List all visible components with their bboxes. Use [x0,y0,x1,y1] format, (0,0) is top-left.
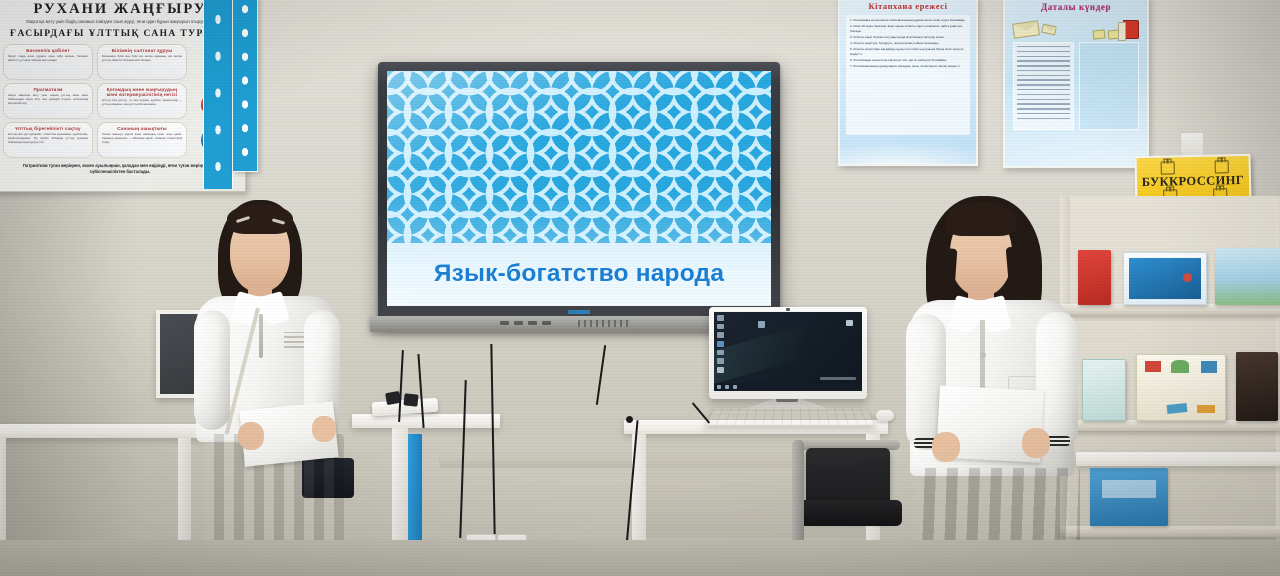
envelope-icon [1012,20,1040,38]
desktop-icon[interactable] [717,367,724,373]
whiteboard-button[interactable] [500,321,509,325]
taskbar-icon[interactable] [733,385,737,389]
student-left [180,190,366,576]
desktop-icons[interactable] [717,315,724,373]
poster-dates-panels [1011,42,1141,130]
poster-card: Прагматизм Нақты мақсатқа жету үшін өзің… [3,83,93,119]
poster-library-rules-title: Кітапхана ережесі [846,2,970,11]
sticky-note-icon [1093,29,1106,39]
poster-card-body: Қазіргі таңда өзіне тұрақты орын таба ал… [8,55,88,63]
poster-wave-decoration [840,130,978,164]
desktop-icon[interactable] [717,332,724,338]
desktop-icon[interactable] [846,320,853,326]
monitor-screen[interactable] [714,312,862,391]
slide-circle-pattern [387,71,771,243]
poster-card: Білімнің салтанат құруы Болашақта білім … [97,44,187,80]
hand [238,422,264,450]
poster-card: Ұлттық бірегейлікті сақтау Ұлттық салт-д… [3,122,93,158]
desktop-icon[interactable] [717,358,724,364]
poster-card-body: Ұлттық салт-дәстүрлеріміз, тіліміз бен м… [8,133,88,145]
poster-dates-blank-panel [1079,42,1140,130]
whiteboard-buttons[interactable] [500,321,551,325]
poster-card-heading: Ұлттық бірегейлікті сақтау [8,126,88,131]
book-doodle-icon [1161,161,1175,174]
desk-right [1076,452,1280,466]
rule-line: 7. Кітапханашының нұсқауларын орындау, о… [850,64,966,70]
bookshelf-shelf [1060,420,1280,431]
desktop-icon[interactable] [717,324,724,330]
book-item[interactable] [1136,354,1226,421]
floor [0,540,1280,576]
rule-line: 1. Кітапханаға келушілерге кітапханашыны… [850,18,966,24]
blouse-button [980,352,986,358]
desktop-icon[interactable] [758,321,765,328]
desk-left [0,424,208,438]
bookcrossing-label: БУККРОССИНГ [1142,172,1245,189]
sleeve-left [194,310,230,430]
book-doodle-icon [1215,160,1229,173]
book-item[interactable] [1090,468,1168,526]
poster-card-body: Нақты мақсатқа жету үшін өзіңнің ұлттық … [8,94,88,106]
hand [312,416,336,442]
book-item[interactable] [1123,252,1207,305]
whiteboard-frame: Язык-богатство народа [378,62,780,322]
chair-seat[interactable] [798,500,902,526]
hand [932,432,960,462]
computer-monitor[interactable] [709,307,867,399]
poster-card-heading: Прагматизм [8,87,88,92]
power-plug [403,393,418,406]
cable-clip [626,416,633,423]
rule-line: 2. Кітап 10 күнге беріледі. Егер оқушы к… [850,24,966,35]
slide-title: Язык-богатство народа [387,243,771,306]
kazakh-ornament-icon [203,0,233,189]
whiteboard-button[interactable] [542,321,551,325]
book-item[interactable] [1215,248,1280,305]
poster-card: Қоғамдық және жаңғырудың мәні өзгермеуші… [97,83,187,119]
taskbar[interactable] [714,383,862,391]
whiteboard-button[interactable] [528,321,537,325]
poster-card-heading: Қоғамдық және жаңғырудың мәні өзгермеуші… [102,87,182,97]
book-item[interactable] [1236,352,1278,421]
shirt-placket [259,314,263,358]
poster-card-body: Болашақта білім мен білік кез келген ада… [102,55,182,63]
student-right [896,188,1092,576]
poster-memorable-dates: Даталы күндер [1003,0,1149,168]
taskbar-icon[interactable] [717,385,721,389]
envelope-icon [1041,24,1057,36]
poster-card-heading: Білімнің салтанат құруы [102,48,182,53]
desktop-icon[interactable] [717,350,724,356]
interactive-whiteboard[interactable]: Язык-богатство народа [378,62,780,322]
keyboard[interactable] [706,407,875,425]
hand [1022,428,1050,458]
poster-memorable-dates-title: Даталы күндер [1011,2,1141,12]
rule-line: 5. Кітапты жоғалтқан жағдайда оқушы сол … [850,47,966,58]
poster-ruhani-zhangyru: РУХАНИ ЖАҢҒЫРУ Мақсатқа жету үшін біздің… [0,0,246,192]
whiteboard-logo [568,310,590,314]
whiteboard-button[interactable] [514,321,523,325]
desktop-watermark [820,377,856,380]
poster-card-body: Үшінші жаңғыру өңірлік және жаһандық сип… [102,133,182,145]
hair-fringe [946,202,1016,236]
poster-card: Бәсекелік қабілет Қазіргі таңда өзіне тұ… [3,44,93,80]
desktop-icon[interactable] [717,315,724,321]
desktop-icon[interactable] [717,341,724,347]
whiteboard-ports [578,320,630,327]
book-icon [1123,20,1139,39]
poster-card-body: Ұлттық салт-дәстүр, тіл мен музыка, әдеб… [102,99,182,107]
poster-library-rules: Кітапхана ережесі 1. Кітапханаға келушіл… [838,0,978,166]
poster-dates-text-panel [1013,42,1074,130]
classroom-photo: РУХАНИ ЖАҢҒЫРУ Мақсатқа жету үшін біздің… [0,0,1280,576]
poster-card-heading: Бәсекелік қабілет [8,48,88,53]
whiteboard-screen[interactable]: Язык-богатство народа [387,71,771,306]
poster-card: Сананың ашықтығы Үшінші жаңғыру өңірлік … [97,122,187,158]
poster-card-heading: Сананың ашықтығы [102,126,182,131]
bookshelf-shelf [1060,526,1280,537]
poster-library-rules-list: 1. Кітапханаға келушілерге кітапханашыны… [846,15,970,135]
poster-dates-artwork [1013,20,1139,39]
bookshelf-shelf [1060,304,1280,315]
kazakh-ornament-strip [232,0,258,172]
webcam-icon [786,308,790,311]
bookshelf [1060,196,1280,576]
taskbar-icon[interactable] [725,385,729,389]
mouse[interactable] [876,410,894,421]
